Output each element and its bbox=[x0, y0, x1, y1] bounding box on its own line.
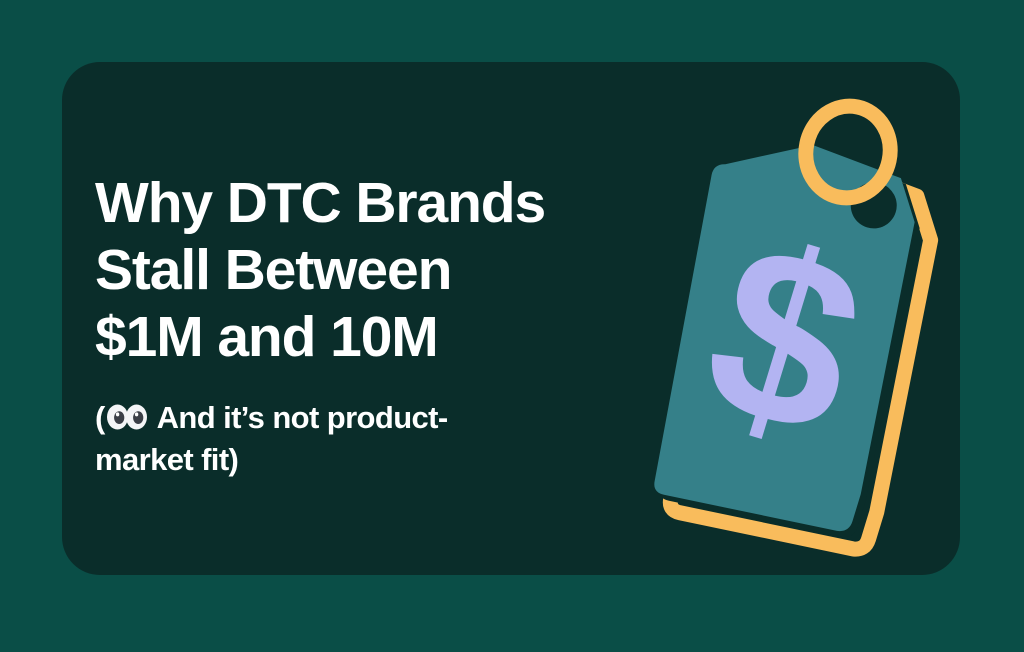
poster-canvas: Why DTC Brands Stall Between $1M and 10M… bbox=[0, 0, 1024, 652]
eyes-emoji-icon bbox=[106, 399, 148, 425]
headline-line-1: Why DTC Brands bbox=[95, 170, 635, 237]
subtitle: ( And it’s not product-market fit) bbox=[95, 371, 495, 481]
subtitle-text: And it’s not product-market fit) bbox=[95, 400, 448, 477]
text-block: Why DTC Brands Stall Between $1M and 10M… bbox=[95, 170, 635, 481]
price-tag-illustration: $ bbox=[605, 90, 960, 560]
subtitle-open-paren: ( bbox=[95, 400, 105, 435]
headline-line-2: Stall Between bbox=[95, 237, 635, 304]
headline-line-3: $1M and 10M bbox=[95, 304, 635, 371]
content-card: Why DTC Brands Stall Between $1M and 10M… bbox=[62, 62, 960, 575]
